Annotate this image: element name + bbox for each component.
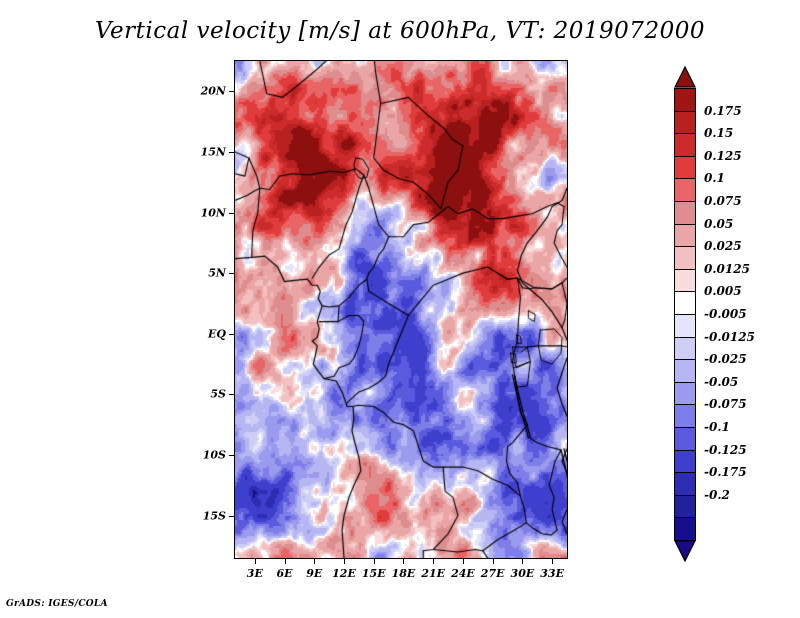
vertical-velocity-heatmap [235,61,567,558]
y-axis-tick [229,273,235,274]
colorbar-segment [674,111,696,135]
x-axis-label: 6E [277,567,293,580]
colorbar-segment [674,178,696,202]
y-axis-label: 10S [203,448,226,461]
colorbar-segment [674,337,696,361]
x-axis-label: 18E [392,567,416,580]
colorbar-segment [674,450,696,474]
colorbar-label: -0.005 [704,307,747,321]
y-axis-tick [229,334,235,335]
x-axis-label: 27E [481,567,505,580]
y-axis-label: 5N [208,267,226,280]
x-axis-label: 12E [332,567,356,580]
y-axis-label: EQ [208,327,226,340]
colorbar-label: 0.0125 [704,262,750,276]
colorbar-label: -0.1 [704,420,730,434]
colorbar-label: 0.025 [704,239,742,253]
page-title: Vertical velocity [m/s] at 600hPa, VT: 2… [0,18,800,44]
x-axis-tick [552,558,553,564]
x-axis-label: 33E [540,567,564,580]
y-axis-label: 15S [203,509,226,522]
x-axis-tick [493,558,494,564]
y-axis-label: 10N [201,206,226,219]
x-axis-label: 15E [362,567,386,580]
y-axis-label: 20N [201,85,226,98]
x-axis-tick [285,558,286,564]
y-axis-tick [229,394,235,395]
colorbar-segment [674,495,696,519]
y-axis-tick [229,213,235,214]
colorbar-segment [674,472,696,496]
x-axis-tick [314,558,315,564]
colorbar-segment [674,201,696,225]
colorbar-label: -0.125 [704,443,747,457]
colorbar-segment [674,404,696,428]
x-axis-label: 9E [306,567,322,580]
colorbar-segment [674,359,696,383]
grads-attribution: GrADS: IGES/COLA [6,599,108,609]
x-axis-tick [344,558,345,564]
colorbar-segment [674,133,696,157]
x-axis-tick [403,558,404,564]
x-axis-label: 3E [247,567,263,580]
colorbar-segment [674,156,696,180]
colorbar-extend-high-arrow [674,66,696,88]
y-axis-tick [229,91,235,92]
colorbar-label: 0.005 [704,284,742,298]
x-axis-tick [374,558,375,564]
colorbar-label: 0.175 [704,104,742,118]
colorbar-label: 0.15 [704,126,733,140]
colorbar-segment [674,382,696,406]
colorbar-label: 0.125 [704,149,742,163]
colorbar-label: -0.025 [704,352,747,366]
colorbar-segment [674,246,696,270]
x-axis-tick [433,558,434,564]
x-axis-label: 30E [511,567,535,580]
map-plot-area: 20N15N10N5NEQ5S10S15S3E6E9E12E15E18E21E2… [234,60,568,559]
y-axis-label: 5S [210,388,226,401]
x-axis-label: 21E [421,567,445,580]
colorbar-segment [674,88,696,112]
x-axis-tick [522,558,523,564]
colorbar-label: -0.075 [704,397,747,411]
colorbar-label: -0.175 [704,465,747,479]
y-axis-tick [229,152,235,153]
colorbar-segment [674,517,696,541]
colorbar-segment [674,314,696,338]
colorbar-segment [674,291,696,315]
x-axis-tick [255,558,256,564]
colorbar-extend-low-arrow [674,540,696,562]
colorbar-segment [674,427,696,451]
colorbar-label: 0.1 [704,171,725,185]
colorbar-segment [674,269,696,293]
y-axis-tick [229,516,235,517]
colorbar-label: -0.05 [704,375,738,389]
x-axis-label: 24E [451,567,475,580]
colorbar-label: 0.075 [704,194,742,208]
colorbar-label: -0.2 [704,488,730,502]
colorbar: 0.1750.150.1250.10.0750.050.0250.01250.0… [674,60,794,557]
y-axis-label: 15N [201,145,226,158]
x-axis-tick [463,558,464,564]
y-axis-tick [229,455,235,456]
colorbar-label: -0.0125 [704,330,755,344]
colorbar-label: 0.05 [704,217,733,231]
colorbar-segment [674,224,696,248]
